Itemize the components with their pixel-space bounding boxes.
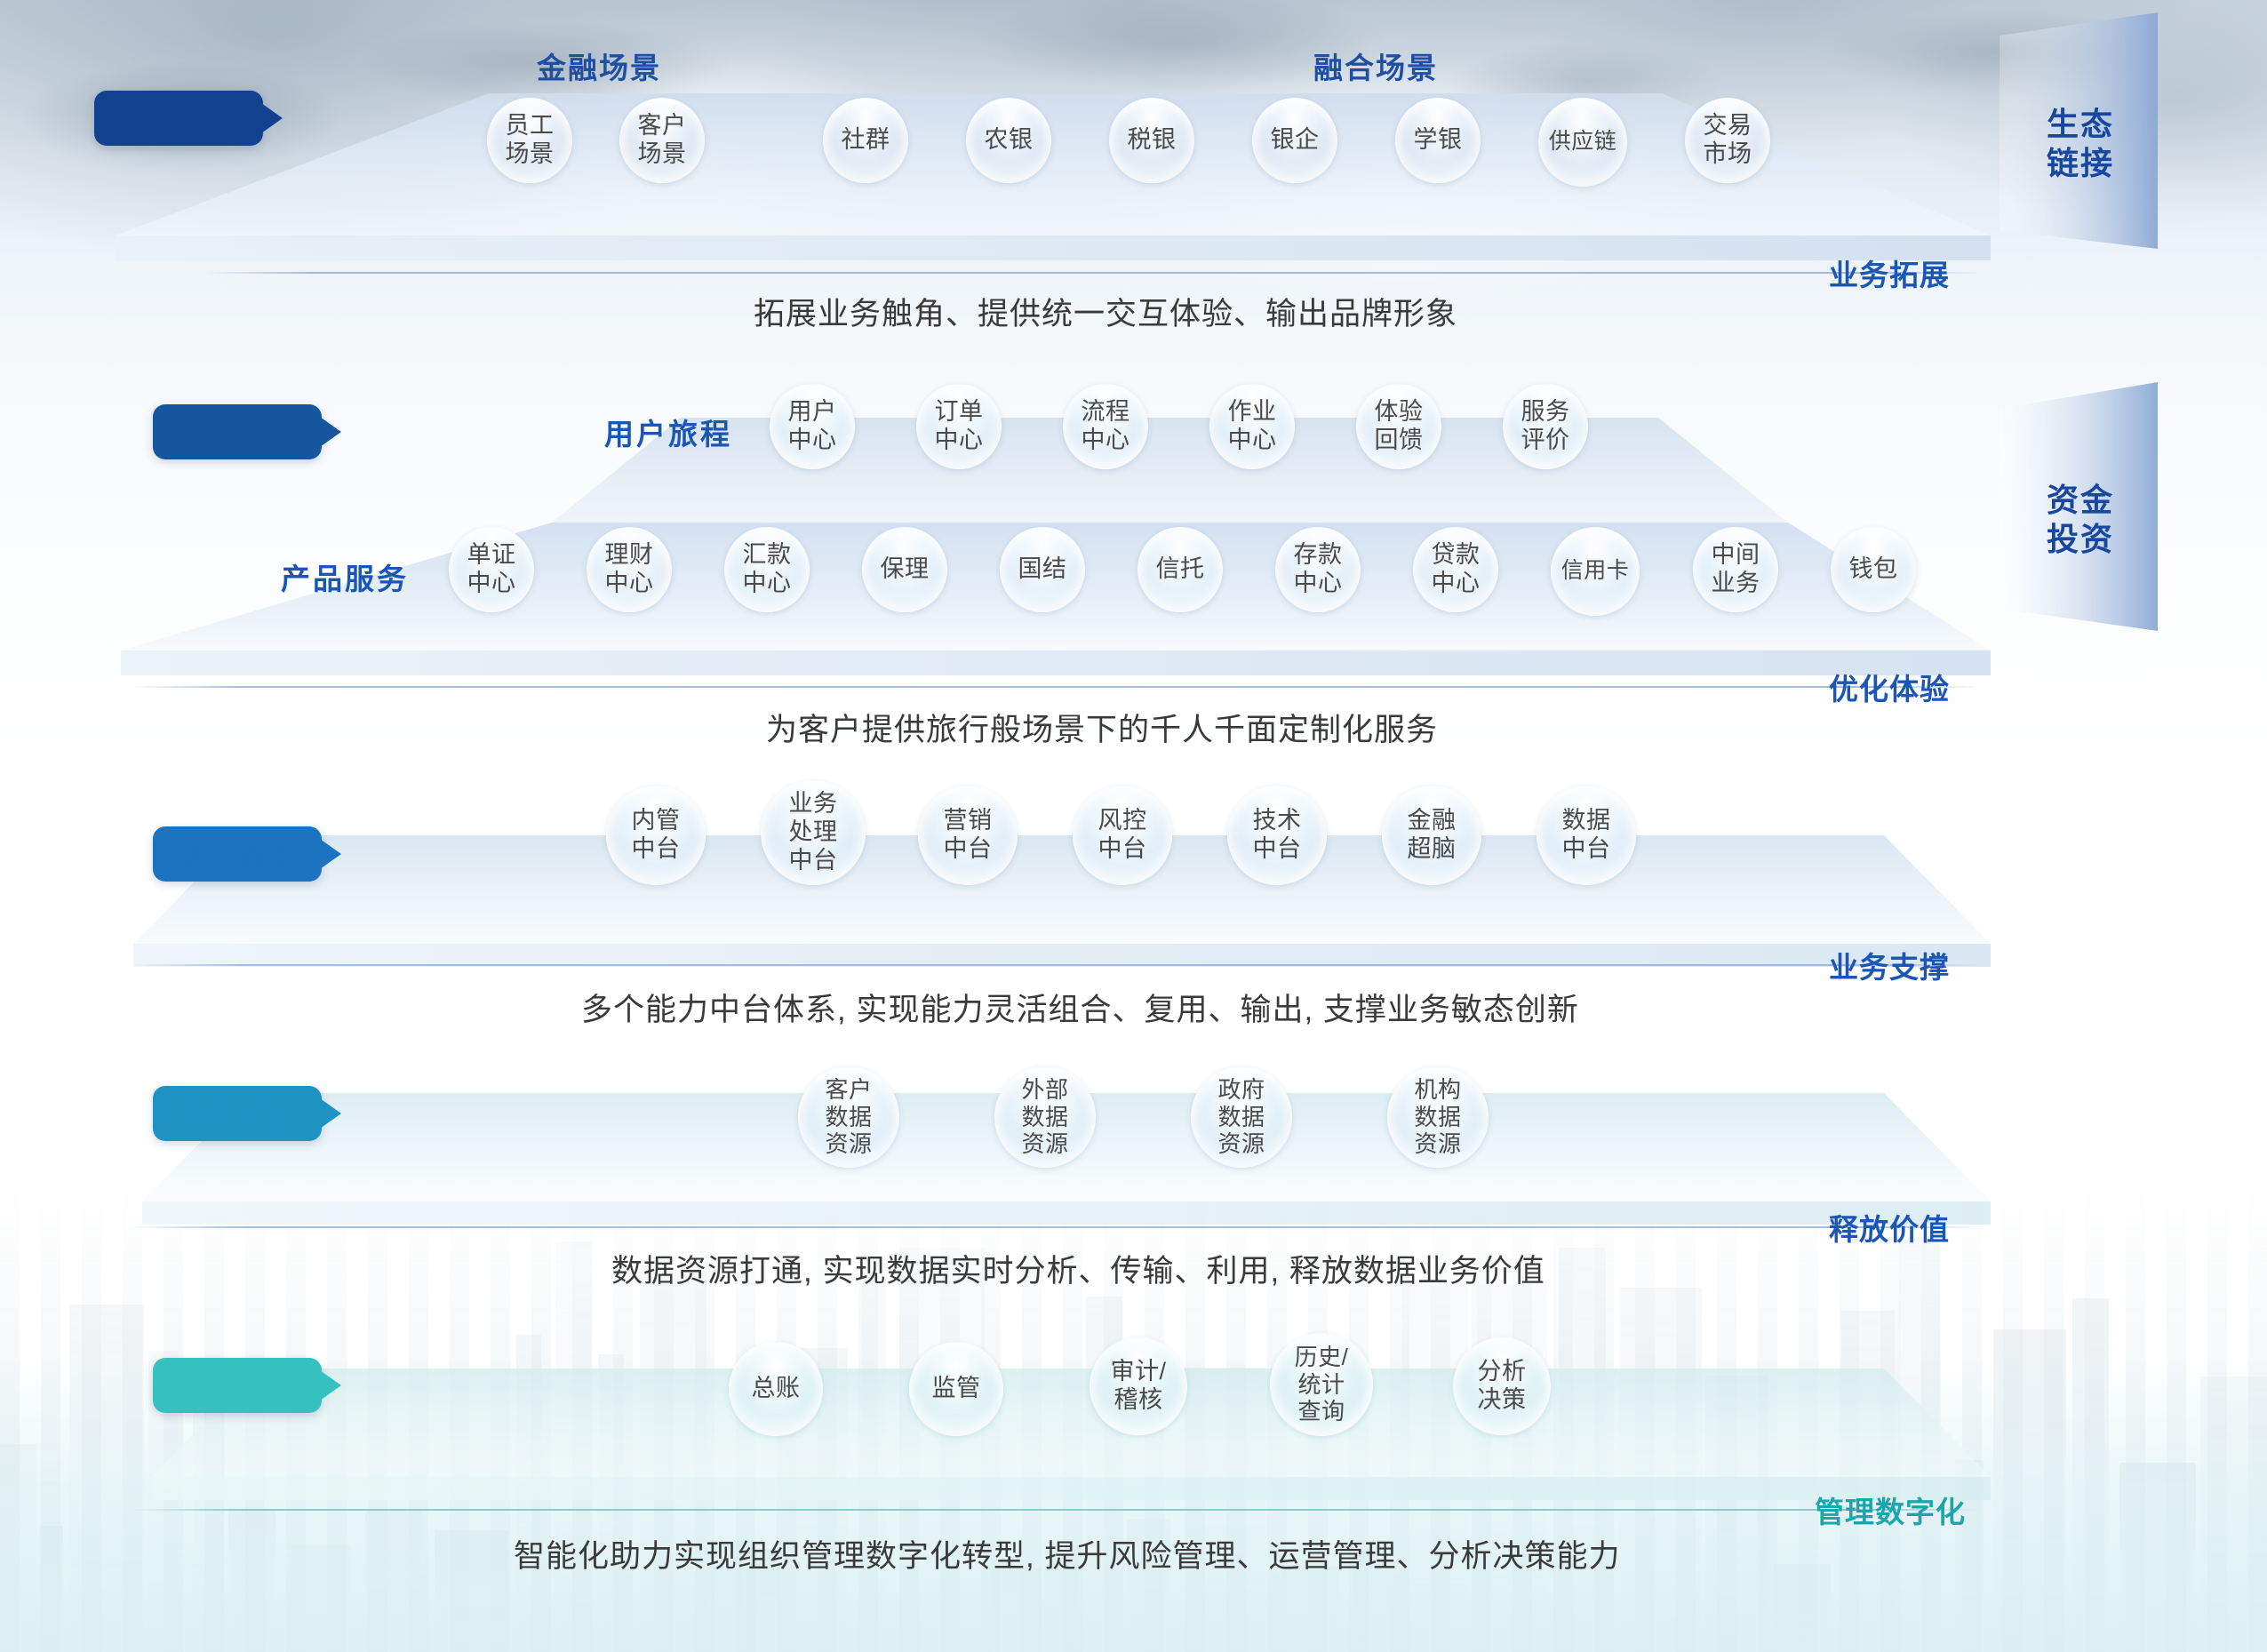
bubble-label: 用户中心: [788, 398, 837, 455]
bubble-label: 贷款中心: [1432, 541, 1481, 598]
separator-line-4: [132, 1226, 1980, 1228]
org-bubble-analysis-decision[interactable]: 分析决策: [1453, 1337, 1551, 1435]
tier-tag-label: 组织管理: [180, 1366, 294, 1406]
caption-tier-1: 拓展业务触角、提供统一交互体验、输出品牌形象: [754, 289, 1457, 334]
separator-line-3: [132, 964, 1980, 966]
capability-bubble-internal-mgmt[interactable]: 内管中台: [606, 786, 706, 885]
capability-bubble-technology[interactable]: 技术中台: [1227, 786, 1327, 885]
caption-tier-5: 智能化助力实现组织管理数字化转型, 提升风险管理、运营管理、分析决策能力: [514, 1531, 1620, 1576]
tier-tag-label: 资源积累: [180, 1094, 294, 1134]
product-bubble-loan-center[interactable]: 贷款中心: [1413, 527, 1498, 612]
bubble-label: 作业中心: [1228, 398, 1277, 455]
banner-line-2: 链接: [2047, 144, 2114, 183]
product-bubble-wealth-center[interactable]: 理财中心: [587, 527, 672, 612]
separator-line-2: [132, 686, 1980, 688]
journey-bubble-user-center[interactable]: 用户中心: [770, 384, 855, 469]
capability-bubble-business-processing[interactable]: 业务处理中台: [761, 780, 866, 885]
bubble-label: 理财中心: [605, 541, 654, 598]
tier-tag-journey-service[interactable]: 旅程服务: [153, 404, 322, 459]
product-bubble-trust[interactable]: 信托: [1137, 527, 1223, 612]
bubble-label: 外部数据资源: [1021, 1076, 1068, 1158]
tier-tag-label: 能力输出: [180, 834, 294, 874]
bubble-label: 钱包: [1849, 555, 1898, 584]
caption-tier-4: 数据资源打通, 实现数据实时分析、传输、利用, 释放数据业务价值: [611, 1246, 1545, 1291]
bubble-label: 业务处理中台: [789, 790, 838, 875]
bubble-label: 审计/稽核: [1110, 1358, 1166, 1415]
bubble-label: 金融超脑: [1408, 807, 1457, 864]
right-banner-capital-investment: 资金 投资: [1984, 382, 2158, 658]
bubble-label: 风控中台: [1098, 807, 1147, 864]
scene-bubble-customer[interactable]: 客户场景: [619, 98, 705, 183]
bubble-label: 信用卡: [1561, 558, 1630, 585]
bubble-label: 中间业务: [1712, 541, 1760, 598]
bubble-label: 流程中心: [1082, 398, 1130, 455]
separator-line-1: [206, 272, 1980, 274]
bubble-label: 监管: [932, 1375, 981, 1403]
tier-tag-resource-accumulation[interactable]: 资源积累: [153, 1086, 322, 1141]
banner-line-2: 投资: [2047, 520, 2114, 559]
row-label-product-service: 产品服务: [281, 555, 409, 598]
side-label-business-support: 业务支撑: [1829, 944, 1950, 986]
journey-bubble-experience-feedback[interactable]: 体验回馈: [1356, 384, 1441, 469]
capability-bubble-data[interactable]: 数据中台: [1537, 786, 1636, 885]
bubble-label: 内管中台: [632, 807, 681, 864]
side-label-business-expansion: 业务拓展: [1829, 251, 1950, 294]
product-bubble-intl-settlement[interactable]: 国结: [1000, 527, 1085, 612]
platform-tier-3: [133, 835, 1991, 978]
bubble-label: 总账: [752, 1375, 801, 1403]
tier-tag-scene-building[interactable]: 场景建设: [94, 91, 263, 146]
banner-text: 生态 链接: [1984, 12, 2158, 275]
row-label-user-journey: 用户旅程: [604, 411, 732, 453]
bubble-label: 单证中心: [467, 541, 516, 598]
group-title-fusion-scenes: 融合场景: [1313, 44, 1438, 87]
scene-bubble-trading-market[interactable]: 交易市场: [1685, 98, 1770, 183]
product-bubble-factoring[interactable]: 保理: [862, 527, 947, 612]
bubble-label: 税银: [1128, 126, 1177, 155]
group-title-financial-scenes: 金融场景: [537, 44, 661, 87]
tier-tag-capability-output[interactable]: 能力输出: [153, 826, 322, 882]
scene-bubble-school-bank[interactable]: 学银: [1395, 98, 1481, 183]
scene-bubble-tax-bank[interactable]: 税银: [1109, 98, 1194, 183]
bubble-label: 订单中心: [935, 398, 984, 455]
product-bubble-remittance-center[interactable]: 汇款中心: [724, 527, 810, 612]
side-label-release-value: 释放价值: [1829, 1206, 1950, 1249]
banner-line-1: 生态: [2047, 105, 2114, 144]
bubble-label: 汇款中心: [743, 541, 792, 598]
banner-line-1: 资金: [2047, 481, 2114, 520]
capability-bubble-risk-control[interactable]: 风控中台: [1073, 786, 1172, 885]
bubble-label: 农银: [985, 126, 1034, 155]
journey-bubble-process-center[interactable]: 流程中心: [1063, 384, 1148, 469]
separator-line-5: [132, 1509, 1980, 1511]
bubble-label: 存款中心: [1294, 541, 1343, 598]
bubble-label: 技术中台: [1253, 807, 1302, 864]
banner-text: 资金 投资: [1984, 382, 2158, 658]
bubble-label: 员工场景: [506, 112, 555, 169]
bubble-label: 历史/统计查询: [1295, 1344, 1349, 1425]
product-bubble-document-center[interactable]: 单证中心: [449, 527, 534, 612]
product-bubble-deposit-center[interactable]: 存款中心: [1275, 527, 1361, 612]
bubble-label: 营销中台: [944, 807, 993, 864]
bubble-label: 数据中台: [1562, 807, 1611, 864]
journey-bubble-service-rating[interactable]: 服务评价: [1503, 384, 1588, 469]
bubble-label: 供应链: [1549, 129, 1617, 156]
product-bubble-wallet[interactable]: 钱包: [1831, 527, 1916, 612]
tier-tag-label: 旅程服务: [180, 412, 294, 452]
org-bubble-supervision[interactable]: 监管: [909, 1342, 1003, 1436]
tier-tag-label: 场景建设: [122, 99, 235, 139]
resource-bubble-external-data[interactable]: 外部数据资源: [994, 1066, 1096, 1168]
bubble-label: 社群: [842, 126, 890, 155]
bubble-label: 信托: [1156, 555, 1205, 584]
journey-bubble-order-center[interactable]: 订单中心: [916, 384, 1002, 469]
capability-bubble-marketing[interactable]: 营销中台: [918, 786, 1018, 885]
resource-bubble-government-data[interactable]: 政府数据资源: [1191, 1066, 1292, 1168]
caption-tier-2: 为客户提供旅行般场景下的千人千面定制化服务: [766, 705, 1438, 750]
platform-tier-5: [151, 1369, 1991, 1511]
bubble-label: 客户数据资源: [825, 1076, 872, 1158]
org-bubble-history-statistics-query[interactable]: 历史/统计查询: [1270, 1333, 1373, 1436]
bubble-label: 保理: [881, 555, 930, 584]
scene-bubble-employee[interactable]: 员工场景: [487, 98, 572, 183]
scene-bubble-bank-enterprise[interactable]: 银企: [1252, 98, 1337, 183]
scene-bubble-community[interactable]: 社群: [823, 98, 908, 183]
bubble-label: 客户场景: [638, 112, 687, 169]
scene-bubble-supply-chain[interactable]: 供应链: [1538, 98, 1627, 187]
product-bubble-intermediary-business[interactable]: 中间业务: [1693, 527, 1778, 612]
caption-tier-3: 多个能力中台体系, 实现能力灵活组合、复用、输出, 支撑业务敏态创新: [581, 985, 1579, 1030]
bubble-label: 国结: [1018, 555, 1067, 584]
org-bubble-audit-inspection[interactable]: 审计/稽核: [1090, 1337, 1187, 1435]
bubble-label: 银企: [1271, 126, 1320, 155]
side-label-optimize-experience: 优化体验: [1829, 666, 1950, 708]
bubble-label: 分析决策: [1478, 1358, 1527, 1415]
org-bubble-general-ledger[interactable]: 总账: [729, 1342, 823, 1436]
bubble-label: 服务评价: [1521, 398, 1570, 455]
bubble-label: 学银: [1414, 126, 1463, 155]
tier-tag-organization-management[interactable]: 组织管理: [153, 1358, 322, 1413]
bubble-label: 体验回馈: [1375, 398, 1424, 455]
bubble-label: 机构数据资源: [1414, 1076, 1461, 1158]
resource-bubble-customer-data[interactable]: 客户数据资源: [798, 1066, 899, 1168]
journey-bubble-operation-center[interactable]: 作业中心: [1209, 384, 1295, 469]
capability-bubble-financial-brain[interactable]: 金融超脑: [1382, 786, 1481, 885]
resource-bubble-institution-data[interactable]: 机构数据资源: [1387, 1066, 1489, 1168]
scene-bubble-agri-bank[interactable]: 农银: [966, 98, 1051, 183]
bubble-label: 政府数据资源: [1217, 1076, 1265, 1158]
product-bubble-credit-card[interactable]: 信用卡: [1551, 527, 1640, 616]
bubble-label: 交易市场: [1704, 112, 1752, 169]
right-banner-ecosystem: 生态 链接: [1984, 12, 2158, 275]
side-label-management-digitization: 管理数字化: [1815, 1488, 1966, 1531]
